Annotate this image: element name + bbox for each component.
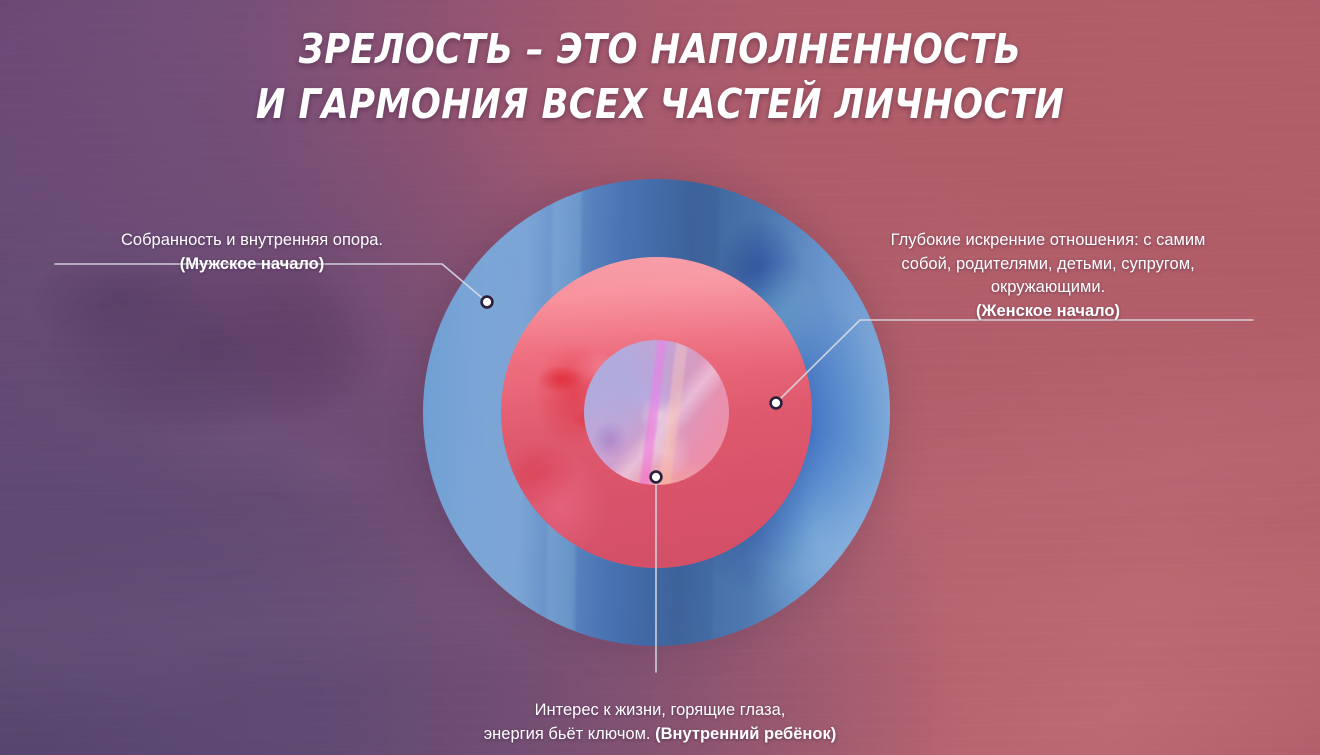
callout-female-accent: (Женское начало) bbox=[838, 300, 1258, 323]
callout-male-text: Собранность и внутренняя опора. bbox=[121, 231, 383, 249]
inner-circle-child[interactable] bbox=[584, 340, 729, 485]
inner-circle-photo bbox=[584, 340, 729, 485]
callout-female-text: Глубокие искренние отношения: с самим со… bbox=[891, 231, 1206, 296]
infographic-canvas: ЗРЕЛОСТЬ – ЭТО НАПОЛНЕННОСТЬ И ГАРМОНИЯ … bbox=[0, 0, 1320, 755]
callout-male: Собранность и внутренняя опора. (Мужское… bbox=[52, 206, 452, 300]
concentric-diagram bbox=[0, 0, 1320, 755]
callout-female: Глубокие искренние отношения: с самим со… bbox=[838, 206, 1258, 347]
callout-male-accent: (Мужское начало) bbox=[52, 253, 452, 276]
callout-inner-child-accent: (Внутренний ребёнок) bbox=[655, 725, 836, 743]
callout-inner-child: Интерес к жизни, горящие глаза, энергия … bbox=[420, 676, 900, 746]
